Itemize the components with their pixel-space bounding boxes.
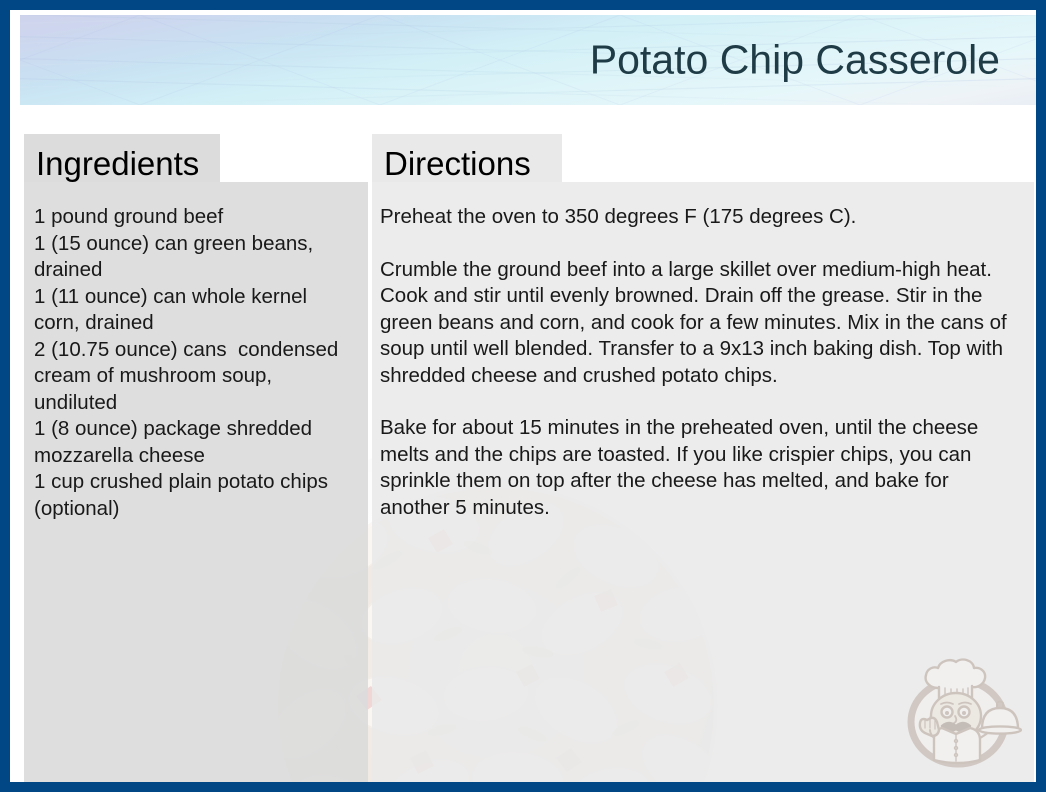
direction-paragraph: Preheat the oven to 350 degrees F (175 d… — [380, 204, 1012, 231]
ingredients-heading: Ingredients — [24, 134, 220, 182]
ingredient-line: 2 (10.75 ounce) cans condensed — [34, 337, 360, 364]
directions-panel: Preheat the oven to 350 degrees F (175 d… — [372, 182, 1034, 792]
ingredient-line: 1 (11 ounce) can whole kernel — [34, 284, 360, 311]
ingredient-line: (optional) — [34, 496, 360, 523]
ingredient-line: 1 cup crushed plain potato chips — [34, 469, 360, 496]
ingredient-line: 1 pound ground beef — [34, 204, 360, 231]
ingredient-line: corn, drained — [34, 310, 360, 337]
ingredients-panel: 1 pound ground beef 1 (15 ounce) can gre… — [24, 182, 368, 792]
direction-paragraph: Crumble the ground beef into a large ski… — [380, 257, 1012, 390]
directions-heading: Directions — [372, 134, 562, 182]
direction-paragraph: Bake for about 15 minutes in the preheat… — [380, 415, 1012, 521]
header-banner: Potato Chip Casserole — [20, 15, 1036, 105]
page-title: Potato Chip Casserole — [590, 40, 1000, 81]
ingredient-line: drained — [34, 257, 360, 284]
recipe-card: Potato Chip Casserole — [0, 0, 1046, 792]
ingredient-line: 1 (8 ounce) package shredded — [34, 416, 360, 443]
ingredient-line: undiluted — [34, 390, 360, 417]
ingredient-line: cream of mushroom soup, — [34, 363, 360, 390]
ingredient-line: mozzarella cheese — [34, 443, 360, 470]
ingredient-line: 1 (15 ounce) can green beans, — [34, 231, 360, 258]
